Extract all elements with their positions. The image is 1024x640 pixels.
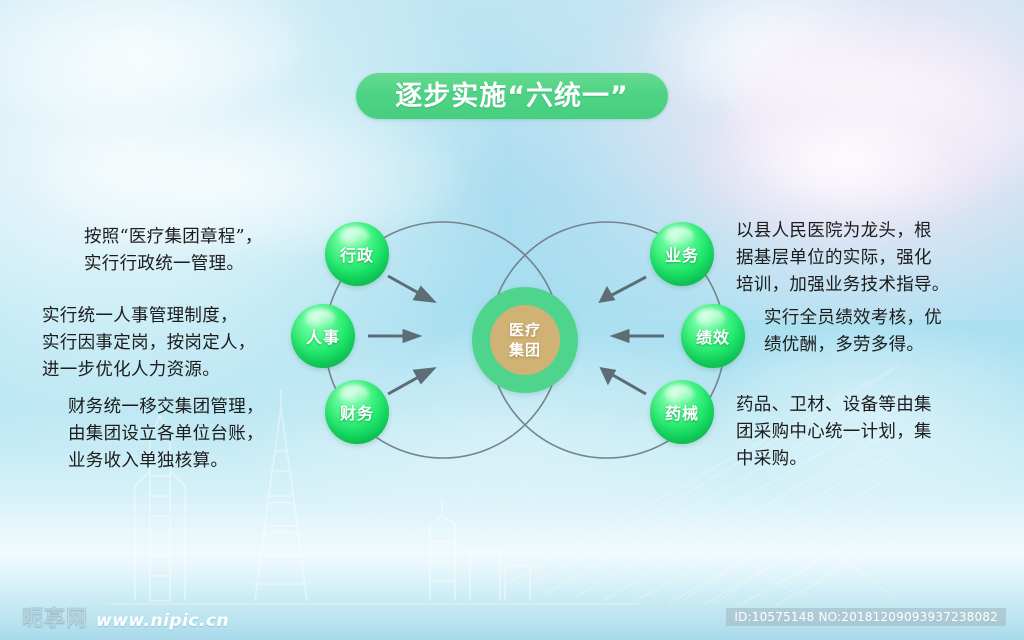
note-administration: 按照“医疗集团章程”， 实行行政统一管理。	[84, 224, 316, 278]
site-watermark: 昵享网 www.nipic.cn	[22, 602, 229, 632]
hub-core: 医疗 集团	[490, 305, 560, 375]
note-performance: 实行全员绩效考核，优 绩优酬，多劳多得。	[764, 305, 996, 359]
hub-label-line1: 医疗	[509, 321, 541, 340]
node-business-label: 业务	[665, 242, 699, 266]
node-finance[interactable]: 财务	[325, 380, 389, 444]
poster-canvas: 逐步实施“六统一”	[0, 0, 1024, 640]
node-performance-label: 绩效	[696, 324, 730, 348]
node-pharmacy-label: 药械	[665, 400, 699, 424]
note-pharmacy: 药品、卫材、设备等由集 团采购中心统一计划，集 中采购。	[736, 392, 998, 473]
node-administration[interactable]: 行政	[325, 222, 389, 286]
arrow-performance-to-hub	[614, 331, 664, 341]
arrow-administration-to-hub	[388, 276, 433, 301]
node-performance[interactable]: 绩效	[681, 304, 745, 368]
note-personnel: 实行统一人事管理制度， 实行因事定岗，按岗定人， 进一步优化人力资源。	[42, 303, 304, 384]
node-administration-label: 行政	[340, 242, 374, 266]
site-url-text: www.nipic.cn	[96, 611, 229, 632]
node-pharmacy[interactable]: 药械	[650, 380, 714, 444]
arrow-personnel-to-hub	[368, 331, 418, 341]
note-finance: 财务统一移交集团管理， 由集团设立各单位台账， 业务收入单独核算。	[68, 394, 308, 475]
hub-label-line2: 集团	[509, 341, 541, 360]
node-finance-label: 财务	[340, 400, 374, 424]
arrow-business-to-hub	[601, 277, 646, 301]
hub-node-medical-group[interactable]: 医疗 集团	[472, 287, 578, 393]
site-name: 昵享网	[22, 602, 88, 632]
arrow-finance-to-hub	[388, 369, 433, 394]
arrow-pharmacy-to-hub	[602, 369, 646, 394]
node-personnel-label: 人事	[306, 324, 340, 348]
note-business: 以县人民医院为龙头，根 据基层单位的实际，强化 培训，加强业务技术指导。	[736, 218, 998, 299]
node-business[interactable]: 业务	[650, 222, 714, 286]
asset-id-badge: ID:10575148 NO:20181209093937238082	[726, 608, 1006, 626]
